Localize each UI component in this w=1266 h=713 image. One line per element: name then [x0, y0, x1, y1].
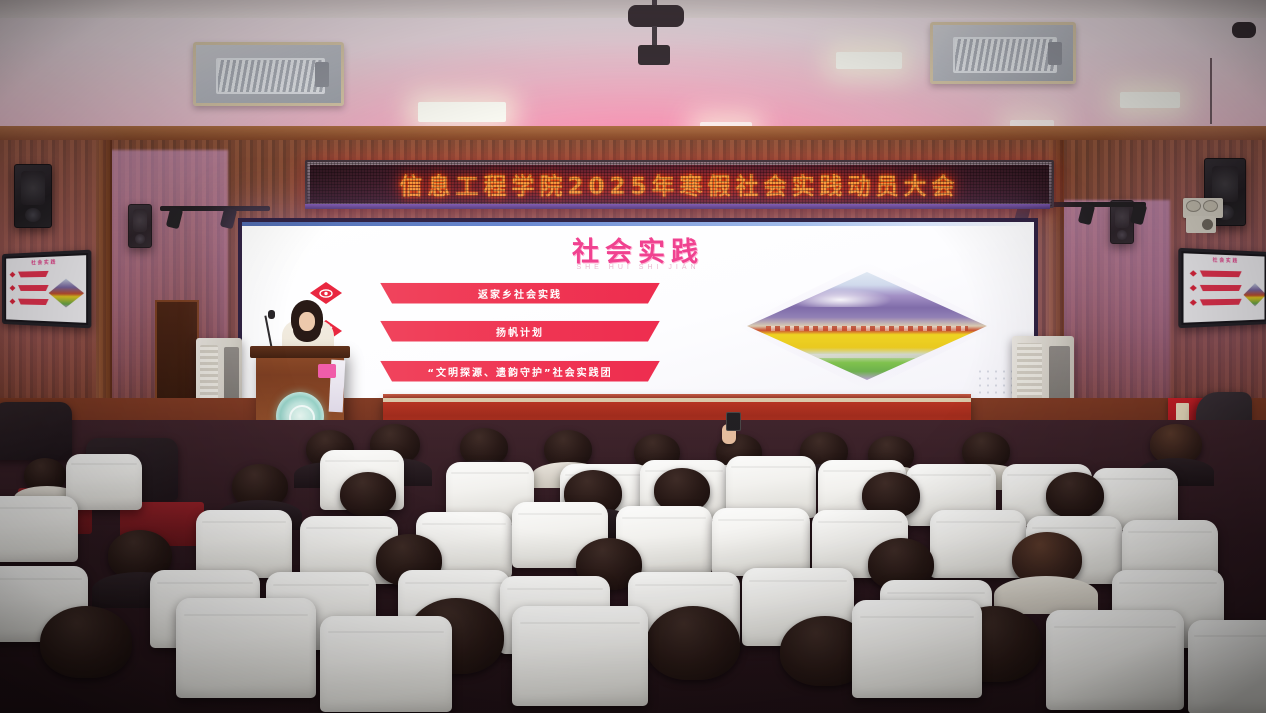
right-monitor-icon-2 — [1190, 285, 1197, 291]
slide-bullet-label-2: 扬帆计划 — [496, 324, 544, 339]
left-monitor-band-2 — [18, 285, 49, 291]
eye-diamond-icon — [310, 282, 342, 304]
slide-bullet-band-3: “文明探源、遗韵守护”社会实践团 — [380, 361, 660, 382]
ceiling-panel-light-1 — [418, 102, 506, 122]
photo-road — [761, 354, 972, 358]
audience-seat[interactable] — [196, 510, 292, 578]
left-monitor-band-1 — [18, 271, 49, 278]
wall-speaker-far-left — [14, 164, 52, 228]
right-monitor-screen: 社会实践 — [1184, 253, 1265, 322]
presenter-face — [299, 312, 315, 331]
slide-bullet-band-1: 返家乡社会实践 — [380, 283, 660, 304]
ceiling-cable — [1210, 58, 1212, 124]
slide-bullet-label-3: “文明探源、遗韵守护”社会实践团 — [427, 364, 612, 379]
led-banner-text: 信息工程学院2025年寒假社会实践动员大会 — [395, 165, 963, 203]
led-banner-bottom-trim — [305, 204, 1050, 209]
attendee-head — [1046, 472, 1104, 518]
pink-folder — [318, 364, 336, 378]
projection-screen: 社会实践 SHE HUI SHI JIAN 返家乡社会实践 扬帆计划 — [242, 222, 1034, 404]
audience-seat[interactable] — [852, 600, 982, 698]
audience-seat[interactable] — [712, 508, 810, 576]
audience-seat[interactable] — [1188, 620, 1266, 713]
left-monitor-icon-2 — [10, 285, 16, 291]
wall-socket — [1186, 216, 1216, 233]
right-monitor-band-2 — [1200, 285, 1242, 291]
ceiling-panel-light-3 — [1120, 92, 1180, 108]
audience-seat[interactable] — [512, 606, 648, 706]
emergency-light — [1183, 198, 1223, 218]
slide-top-accent — [242, 222, 1034, 226]
right-monitor-photo — [1243, 283, 1264, 306]
audience-seat[interactable] — [0, 496, 78, 562]
right-monitor-band-1 — [1200, 270, 1242, 277]
led-banner-inner: 信息工程学院2025年寒假社会实践动员大会 — [310, 165, 1049, 203]
slide-bullet-label-1: 返家乡社会实践 — [478, 286, 562, 301]
left-monitor-screen: 社会实践 — [6, 255, 86, 323]
left-monitor-band-3 — [18, 299, 49, 305]
slide-bullet-row-3: “文明探源、遗韵守护”社会实践团 — [310, 360, 660, 382]
audience-seat[interactable] — [1046, 610, 1184, 710]
front-chair-left-1[interactable] — [0, 402, 72, 460]
countryside-landscape-photo — [747, 272, 987, 380]
audience-seat[interactable] — [66, 454, 142, 510]
photo-village-houses — [766, 326, 968, 331]
led-scrolling-banner: 信息工程学院2025年寒假社会实践动员大会 — [305, 160, 1054, 208]
ceiling-ac-cassette-right — [930, 22, 1076, 84]
slide-bullet-row-2: 扬帆计划 — [310, 320, 660, 342]
right-monitor-icon-1 — [1190, 270, 1197, 276]
right-wall-monitor: 社会实践 — [1178, 248, 1266, 328]
attendee-head — [40, 606, 132, 678]
right-monitor-band-3 — [1200, 299, 1242, 306]
slide-bullet-band-2: 扬帆计划 — [380, 321, 660, 342]
left-monitor-icon-3 — [10, 299, 16, 305]
auditorium-scene: 信息工程学院2025年寒假社会实践动员大会 社会实践 SHE HUI SHI J… — [0, 0, 1266, 713]
left-monitor-photo — [49, 278, 84, 308]
slide-bullet-row-1: 返家乡社会实践 — [310, 282, 660, 304]
ceiling-panel-light-2 — [836, 52, 902, 69]
audience-seat[interactable] — [320, 616, 452, 712]
ceiling-ac-cassette-left — [193, 42, 344, 106]
left-wall-monitor: 社会实践 — [2, 250, 91, 329]
slide-subtitle: SHE HUI SHI JIAN — [242, 264, 1034, 271]
microphone-head — [268, 310, 275, 319]
ceiling-camera — [1232, 22, 1256, 38]
attendee-head — [646, 606, 740, 680]
audience-seat[interactable] — [930, 510, 1026, 578]
attendee-head — [340, 472, 396, 516]
audience-area — [0, 420, 1266, 713]
projector-body — [638, 45, 670, 65]
audience-seat[interactable] — [176, 598, 316, 698]
wall-speaker-left — [128, 204, 152, 248]
right-monitor-title: 社会实践 — [1184, 255, 1265, 265]
left-monitor-title: 社会实践 — [6, 257, 86, 267]
right-monitor-icon-3 — [1190, 299, 1197, 305]
projector-housing — [628, 5, 684, 27]
podium-top-surface — [250, 346, 350, 358]
phone — [726, 412, 741, 431]
left-monitor-icon-1 — [10, 272, 16, 278]
